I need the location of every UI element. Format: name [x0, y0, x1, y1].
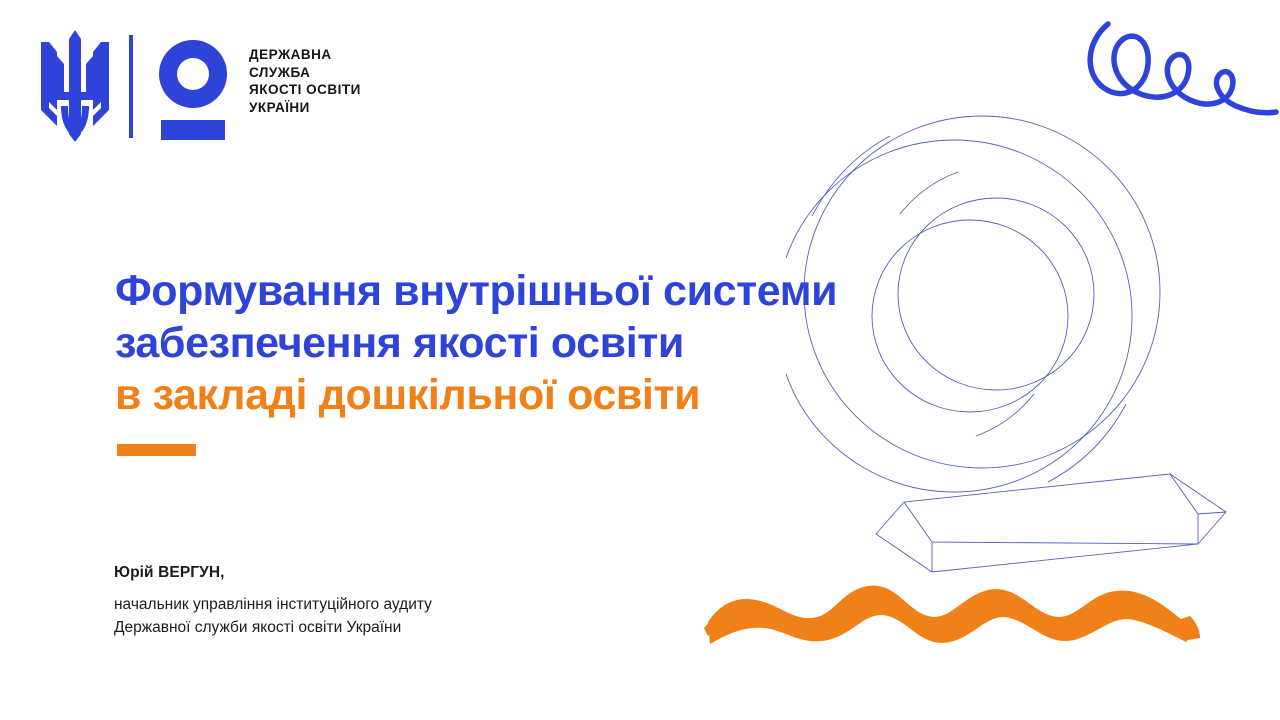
- slide-title: Формування внутрішньої системи забезпече…: [115, 265, 837, 421]
- prism-wireframe-decoration: [840, 468, 1240, 608]
- slide-title-line-3: в закладі дошкільної освіти: [115, 369, 837, 421]
- presenter-role-line-2: Державної служби якості освіти України: [114, 616, 432, 639]
- presenter-name: Юрій ВЕРГУН,: [114, 562, 432, 584]
- presenter-role-line-1: начальник управління інституційного ауди…: [114, 593, 432, 616]
- logo-divider: [129, 35, 133, 138]
- slide-title-line-2: забезпечення якості освіти: [115, 317, 837, 369]
- sqe-ring-mark: [159, 30, 227, 142]
- wordmark-line-1: ДЕРЖАВНА: [249, 46, 361, 64]
- title-slide: ДЕРЖАВНА СЛУЖБА ЯКОСТІ ОСВІТИ УКРАЇНИ Фо…: [0, 0, 1280, 720]
- orange-brush-stroke-decoration: [700, 548, 1200, 658]
- loop-squiggle-decoration: [1078, 8, 1280, 152]
- presenter-block: Юрій ВЕРГУН, начальник управління інстит…: [114, 562, 432, 639]
- presenter-role: начальник управління інституційного ауди…: [114, 593, 432, 639]
- wordmark-line-2: СЛУЖБА: [249, 64, 361, 82]
- torus-wireframe-decoration: [786, 104, 1186, 504]
- organisation-logo-lockup: ДЕРЖАВНА СЛУЖБА ЯКОСТІ ОСВІТИ УКРАЇНИ: [38, 30, 361, 142]
- organisation-wordmark: ДЕРЖАВНА СЛУЖБА ЯКОСТІ ОСВІТИ УКРАЇНИ: [249, 46, 361, 116]
- wordmark-line-3: ЯКОСТІ ОСВІТИ: [249, 81, 361, 99]
- ukrainian-trident-emblem: [38, 30, 112, 142]
- orange-accent-rule: [117, 444, 196, 456]
- wordmark-line-4: УКРАЇНИ: [249, 99, 361, 117]
- slide-title-line-1: Формування внутрішньої системи: [115, 265, 837, 317]
